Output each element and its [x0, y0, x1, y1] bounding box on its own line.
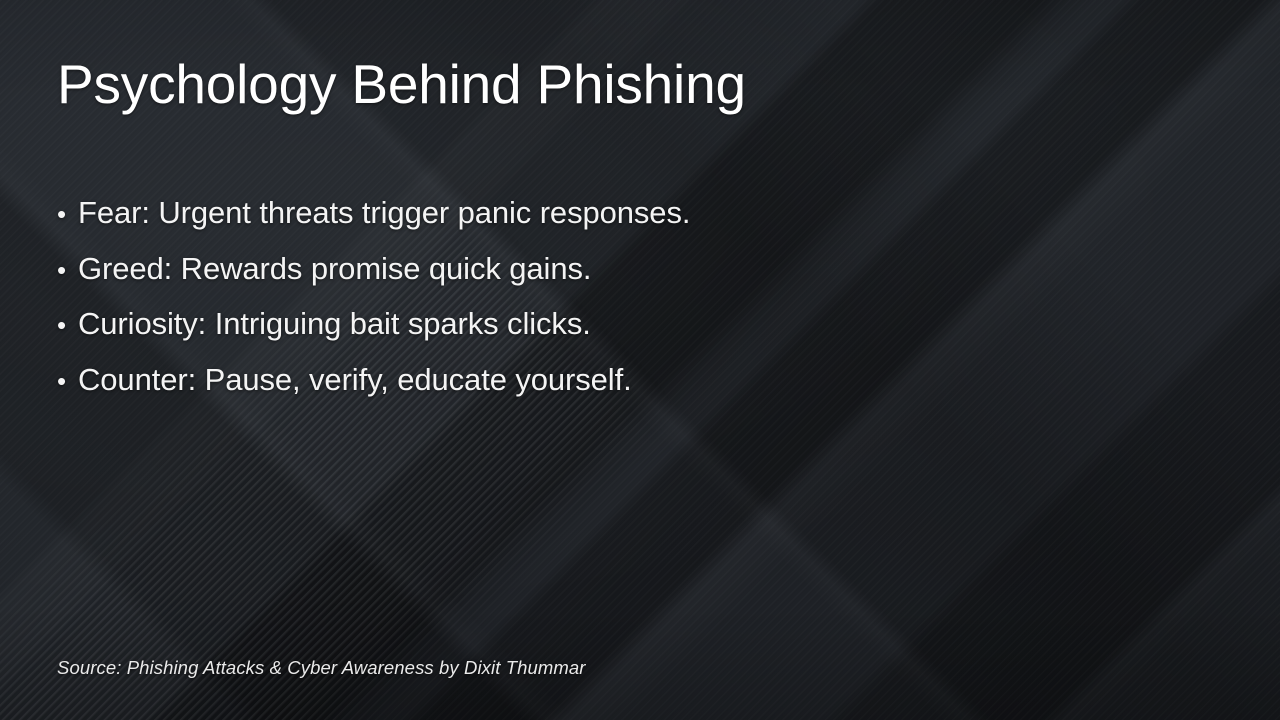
presentation-slide: Psychology Behind Phishing • Fear: Urgen…: [0, 0, 1280, 720]
bullet-point-icon: •: [57, 187, 78, 242]
list-item: • Counter: Pause, verify, educate yourse…: [57, 353, 817, 409]
list-item: • Greed: Rewards promise quick gains.: [57, 242, 817, 298]
slide-content: Psychology Behind Phishing • Fear: Urgen…: [0, 0, 1280, 720]
list-item: • Fear: Urgent threats trigger panic res…: [57, 186, 817, 242]
bullet-point-icon: •: [57, 243, 78, 298]
list-item-label: Greed: Rewards promise quick gains.: [78, 242, 591, 297]
bullet-list: • Fear: Urgent threats trigger panic res…: [57, 186, 817, 408]
slide-title: Psychology Behind Phishing: [57, 55, 746, 113]
source-attribution: Source: Phishing Attacks & Cyber Awarene…: [57, 657, 586, 679]
list-item-label: Counter: Pause, verify, educate yourself…: [78, 353, 632, 408]
list-item-label: Curiosity: Intriguing bait sparks clicks…: [78, 297, 591, 352]
bullet-point-icon: •: [57, 354, 78, 409]
bullet-point-icon: •: [57, 298, 78, 353]
list-item: • Curiosity: Intriguing bait sparks clic…: [57, 297, 817, 353]
list-item-label: Fear: Urgent threats trigger panic respo…: [78, 186, 690, 241]
